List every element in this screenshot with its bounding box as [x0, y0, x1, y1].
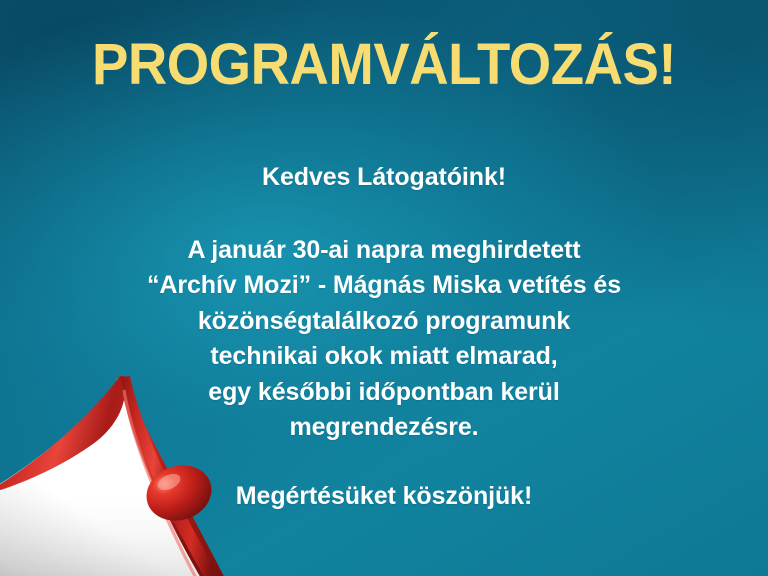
body-line-6: megrendezésre.	[0, 410, 768, 446]
spacer-2	[0, 446, 768, 479]
closing-line: Megértésüket köszönjük!	[0, 479, 768, 515]
body-line-5: egy későbbi időpontban kerül	[0, 375, 768, 411]
body-line-3: közönségtalálkozó programunk	[0, 304, 768, 340]
announcement-poster: PROGRAMVÁLTOZÁS! Kedves Látogatóink! A j…	[0, 0, 768, 576]
message-body: Kedves Látogatóink! A január 30-ai napra…	[0, 160, 768, 514]
greeting-line: Kedves Látogatóink!	[0, 160, 768, 196]
body-line-1: A január 30-ai napra meghirdetett	[0, 233, 768, 269]
page-title: PROGRAMVÁLTOZÁS!	[23, 33, 745, 97]
spacer-1	[0, 196, 768, 233]
body-line-4: technikai okok miatt elmarad,	[0, 339, 768, 375]
body-line-2: “Archív Mozi” - Mágnás Miska vetítés és	[0, 268, 768, 304]
